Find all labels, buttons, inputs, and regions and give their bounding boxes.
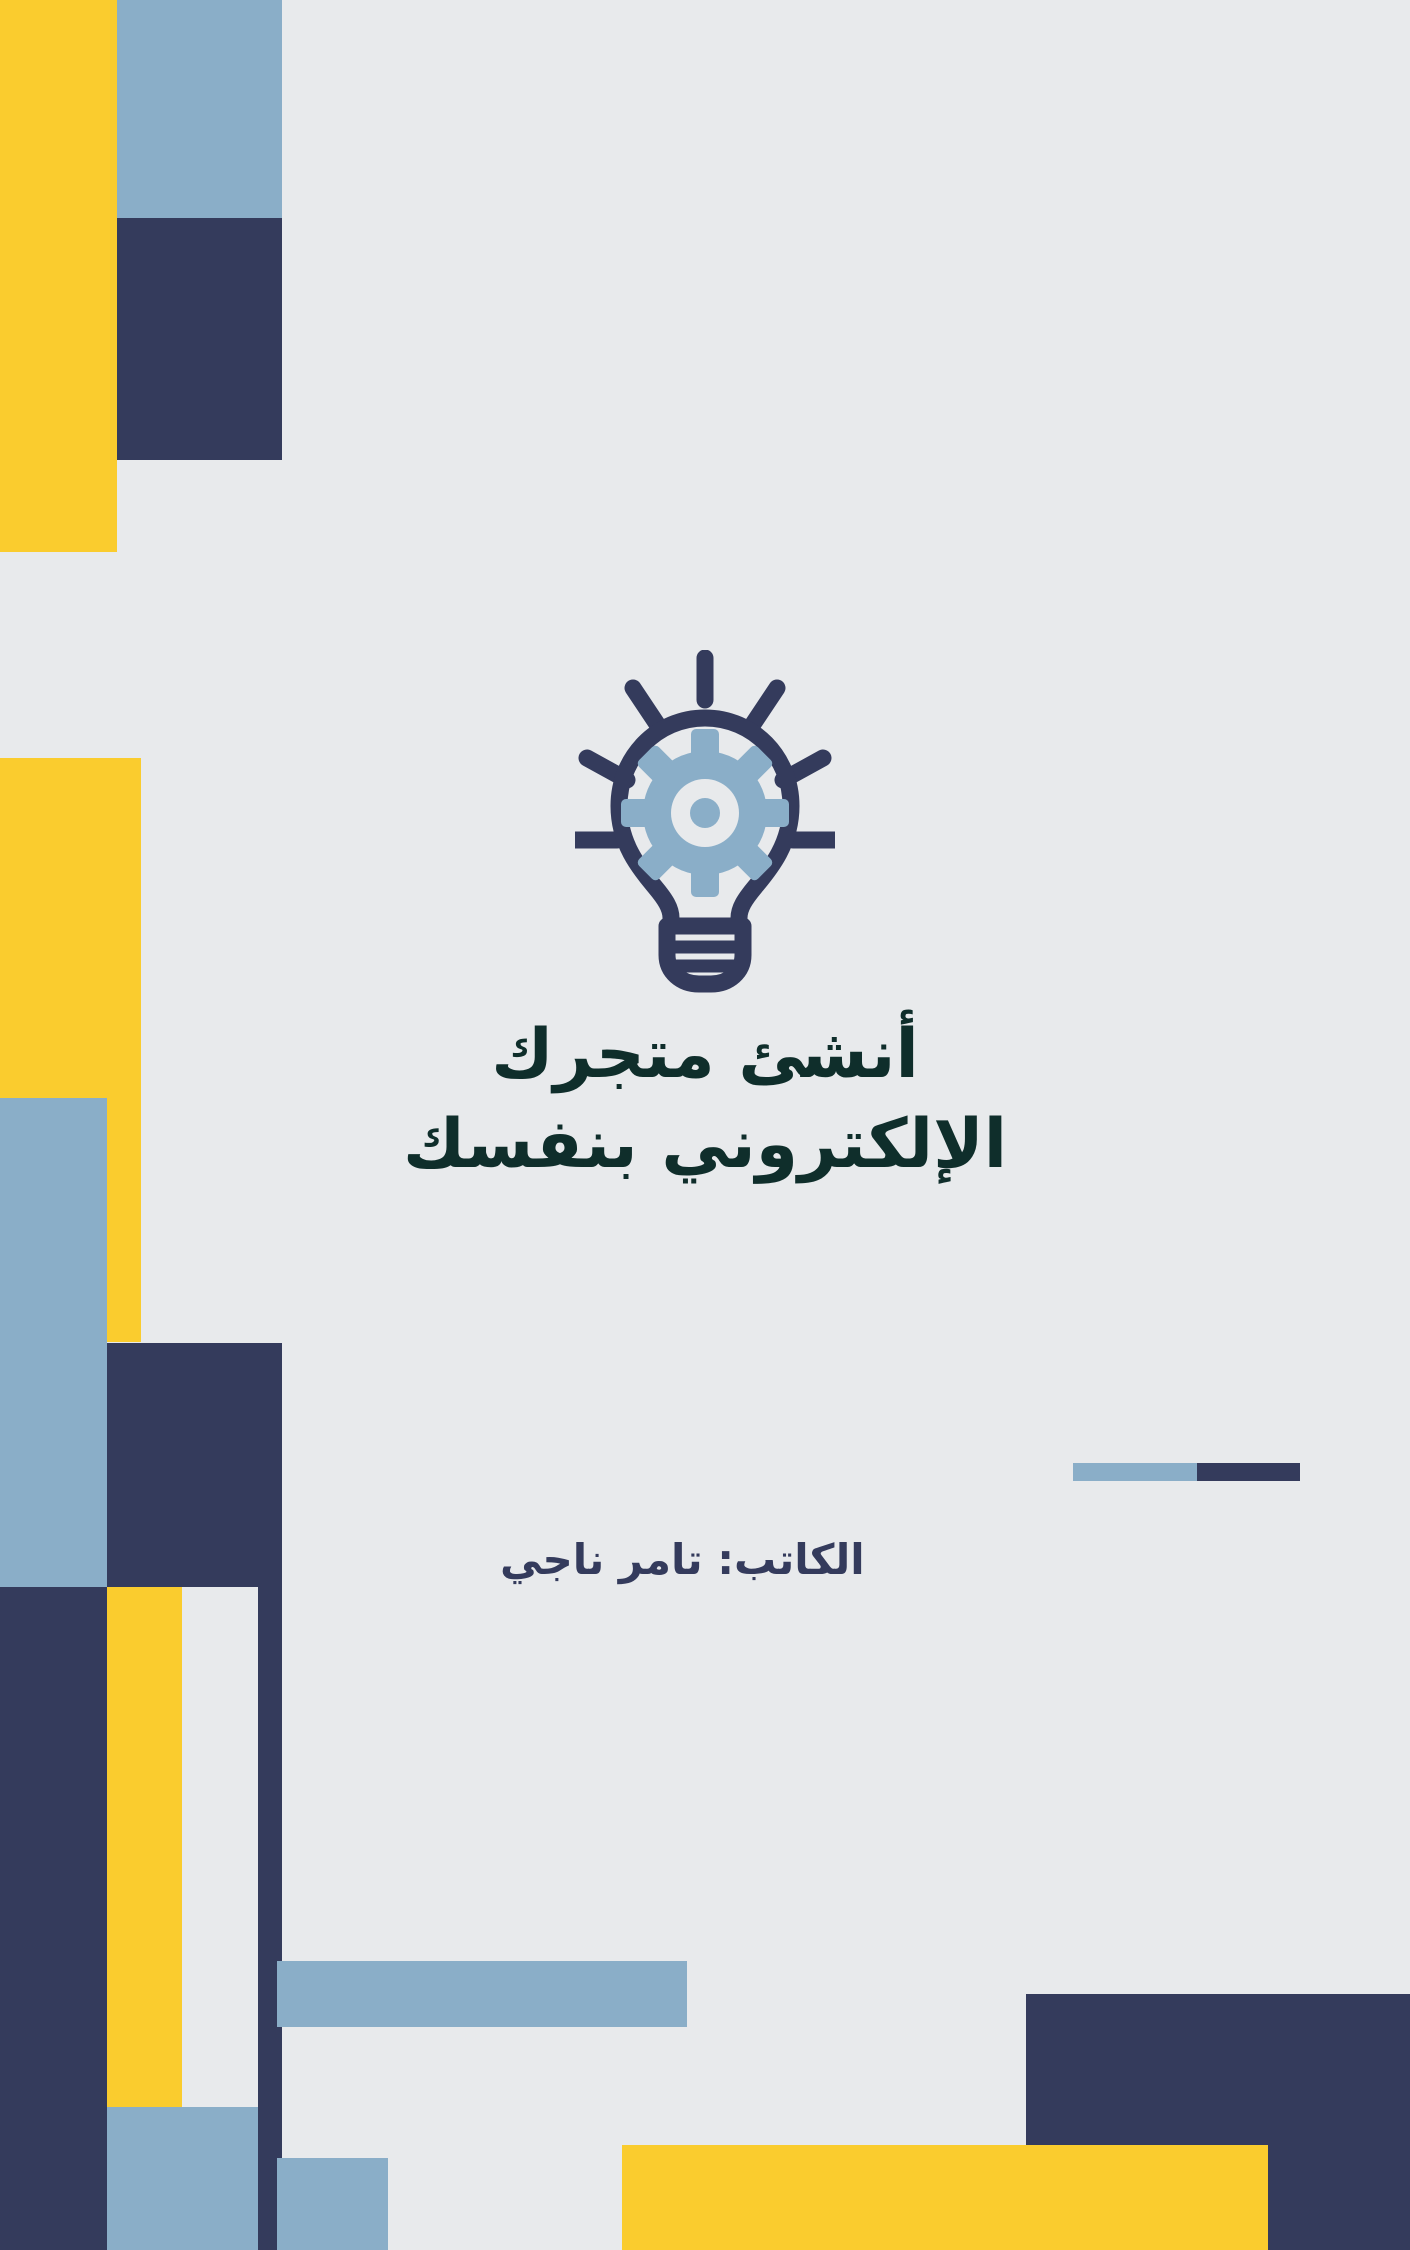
decor-block-yellow-lower-strip [107, 1587, 182, 2107]
author-line: الكاتب: تامر ناجي [500, 1535, 1300, 1584]
decor-block-blue-horizontal-bar [277, 1961, 687, 2027]
author-divider [1073, 1463, 1300, 1481]
decor-block-blue-small-square [277, 2158, 388, 2250]
divider-segment-navy [1197, 1463, 1300, 1481]
decor-block-navy-lower-left [0, 1587, 107, 2250]
decor-block-navy-top [117, 218, 282, 460]
lightbulb-gear-icon [575, 650, 835, 1000]
decor-block-yellow-top-left [0, 0, 117, 552]
cover-icon-container [0, 650, 1410, 1000]
book-cover: أنشئ متجرك الإلكتروني بنفسك الكاتب: تامر… [0, 0, 1410, 2250]
divider-segment-blue [1073, 1463, 1197, 1481]
cover-title: أنشئ متجرك الإلكتروني بنفسك [0, 1010, 1410, 1190]
decor-block-blue-bottom-left [107, 2107, 258, 2250]
title-line-2: الإلكتروني بنفسك [0, 1100, 1410, 1190]
title-line-1: أنشئ متجرك [0, 1010, 1410, 1100]
decor-block-blue-top [117, 0, 282, 218]
decor-block-light-lower-strip [182, 1587, 258, 2107]
decor-block-yellow-bottom [622, 2145, 1268, 2250]
author-name: الكاتب: تامر ناجي [500, 1535, 865, 1584]
